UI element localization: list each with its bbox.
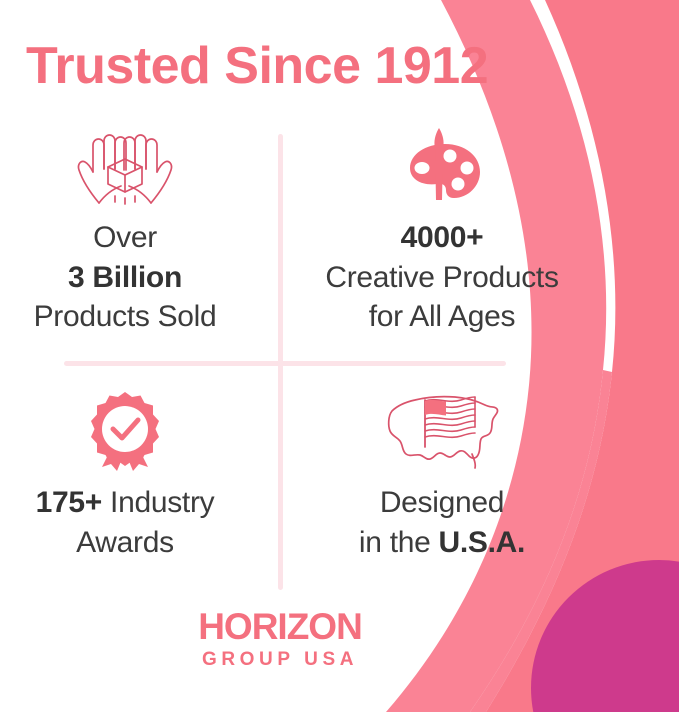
usa-map-florida [472,454,475,468]
stat-text-products-sold: Over 3 Billion Products Sold [0,218,264,337]
stat-block-designed-in-usa: Designed in the U.S.A. [303,393,581,562]
stat-rest: in the [359,526,439,559]
brand-logo: HORIZON GROUP USA [0,608,560,669]
stat-line-emphasis: 4000+ [303,218,581,258]
stat-emphasis: U.S.A. [439,526,526,559]
hands-holding-box-icon [0,128,264,206]
palette-well [452,178,465,191]
brush-tip [434,128,443,145]
flag-bottom-edge [425,433,475,437]
divider-horizontal [64,361,506,366]
stat-line: Awards [0,523,264,563]
stat-line: Over [0,218,264,258]
divider-vertical [278,134,283,590]
infographic-card: Trusted Since 1912 [0,0,679,712]
stat-block-products-sold: Over 3 Billion Products Sold [0,128,264,337]
usa-map-flag-icon [303,393,581,471]
brush-ferrule [435,145,444,150]
stat-line: for All Ages [303,297,581,337]
page-title: Trusted Since 1912 [26,36,488,96]
stat-text-industry-awards: 175+ Industry Awards [0,483,264,562]
paint-palette-brush-icon [303,128,581,206]
stat-line: 175+ Industry [0,483,264,523]
stat-text-designed-in-usa: Designed in the U.S.A. [303,483,581,562]
wave-outer-band [486,0,679,712]
palette-thumb-hole [415,162,430,174]
brush-handle [435,147,443,200]
flag-canton [425,400,446,416]
stat-emphasis: 175+ [36,486,102,519]
stat-block-industry-awards: 175+ Industry Awards [0,393,264,562]
stat-line: in the U.S.A. [303,523,581,563]
stat-line: Creative Products [303,258,581,298]
stat-line: Designed [303,483,581,523]
stat-block-creative-products: 4000+ Creative Products for All Ages [303,128,581,337]
award-ribbon-check-icon [0,393,264,471]
stat-text-creative-products: 4000+ Creative Products for All Ages [303,218,581,337]
stat-line-emphasis: 3 Billion [0,258,264,298]
wave-white-line [481,0,612,712]
stat-line: Products Sold [0,297,264,337]
palette-well [444,150,457,163]
wave-inner-crescent [386,0,606,712]
palette-well [461,162,474,175]
stat-rest: Industry [102,486,214,519]
logo-wordmark: HORIZON [0,608,560,645]
rosette-inner-disc [102,406,148,452]
logo-tagline: GROUP USA [0,650,560,669]
